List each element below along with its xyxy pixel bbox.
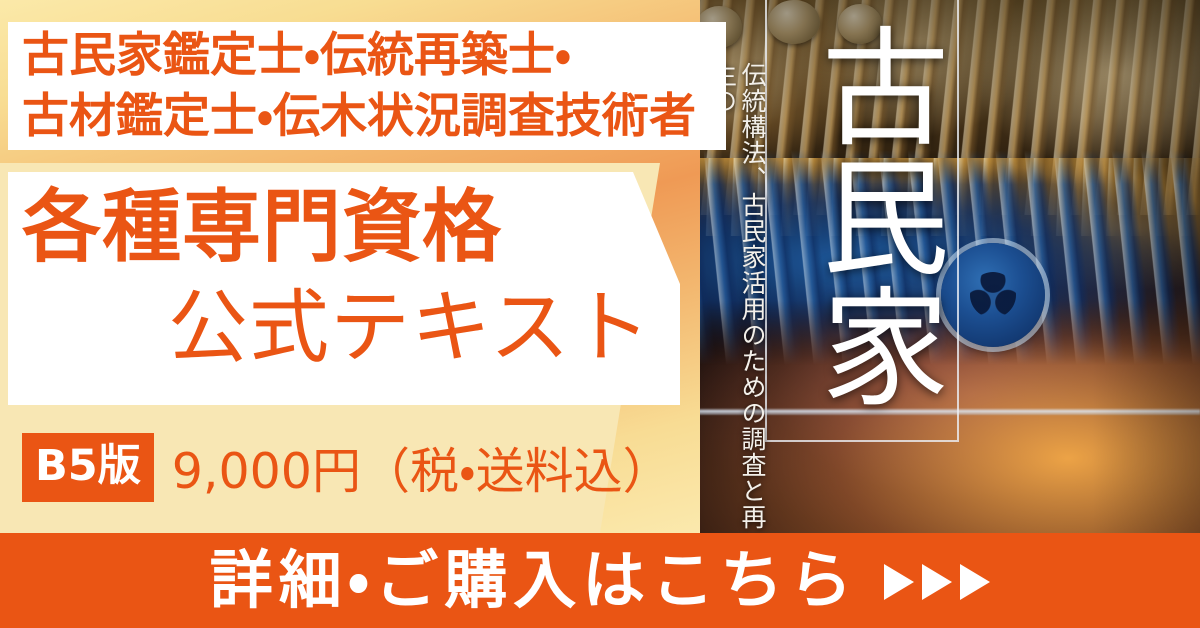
cta-arrows bbox=[884, 564, 990, 600]
product-title-line-1: 各種専門資格 bbox=[22, 188, 502, 267]
product-title-line-2: 公式テキスト bbox=[168, 288, 652, 368]
heading-line-1: 古民家鑑定士・伝統再築士・ bbox=[22, 26, 722, 87]
cta-button[interactable]: 詳細・ご購入はこちら bbox=[0, 533, 1200, 628]
format-badge: B5版 bbox=[22, 433, 154, 502]
promo-banner: 古民家 伝統構法、古民家活用のための調査と再生の 古民家鑑定士・伝統再築士・ 古… bbox=[0, 0, 1200, 628]
price-row: B5版 9,000円（税・送料込） bbox=[22, 432, 672, 503]
chevron-right-icon bbox=[960, 564, 990, 600]
cta-label: 詳細・ご購入はこちら bbox=[210, 549, 858, 612]
chevron-right-icon bbox=[884, 564, 914, 600]
heading-line-2: 古材鑑定士・伝木状況調査技術者 bbox=[22, 87, 722, 148]
cover-title-text: 古民家 bbox=[775, 6, 945, 426]
price-text: 9,000円（税・送料込） bbox=[172, 432, 672, 503]
chevron-right-icon bbox=[922, 564, 952, 600]
qualification-heading: 古民家鑑定士・伝統再築士・ 古材鑑定士・伝木状況調査技術者 bbox=[22, 26, 722, 147]
